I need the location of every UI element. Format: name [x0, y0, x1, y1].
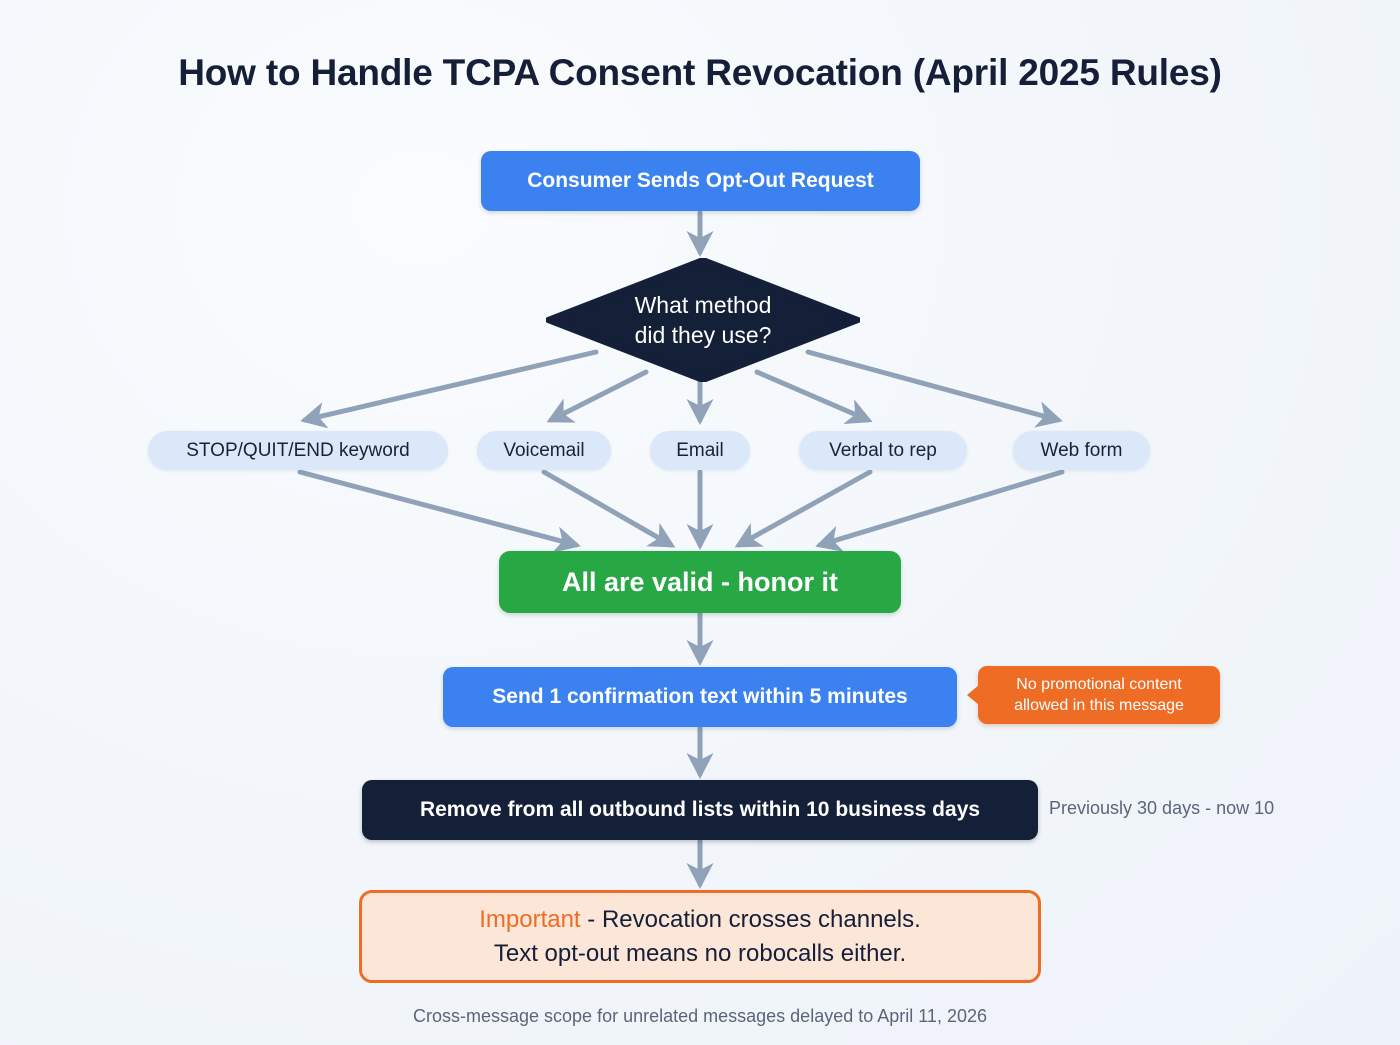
page-title: How to Handle TCPA Consent Revocation (A… — [0, 52, 1400, 94]
node-label: Remove from all outbound lists within 10… — [420, 798, 980, 822]
node-remove-from-outbound-lists[interactable]: Remove from all outbound lists within 10… — [362, 780, 1038, 840]
callout-important-cross-channel: Important - Revocation crosses channels.… — [359, 890, 1041, 983]
callout-tail-icon — [967, 685, 979, 705]
callout-no-promotional-content: No promotional content allowed in this m… — [978, 666, 1220, 724]
important-line2: Text opt-out means no robocalls either. — [494, 937, 906, 971]
flowchart-canvas: How to Handle TCPA Consent Revocation (A… — [0, 0, 1400, 1045]
footer-note: Cross-message scope for unrelated messag… — [0, 1006, 1400, 1027]
pill-label: Voicemail — [503, 440, 584, 462]
node-consumer-opt-out-request[interactable]: Consumer Sends Opt-Out Request — [481, 151, 920, 211]
method-pill-stop-keyword[interactable]: STOP/QUIT/END keyword — [148, 431, 448, 470]
arrow-voicemail-to-valid — [544, 472, 671, 545]
method-pill-voicemail[interactable]: Voicemail — [477, 431, 611, 470]
method-pill-email[interactable]: Email — [650, 431, 750, 470]
method-pill-verbal-to-rep[interactable]: Verbal to rep — [799, 431, 967, 470]
important-keyword: Important — [479, 906, 580, 933]
pill-label: STOP/QUIT/END keyword — [186, 440, 409, 462]
diamond-shape — [546, 258, 860, 382]
arrow-webform-to-valid — [820, 472, 1062, 545]
remove-side-note: Previously 30 days - now 10 — [1049, 798, 1349, 819]
node-label: Send 1 confirmation text within 5 minute… — [492, 685, 907, 709]
node-all-are-valid[interactable]: All are valid - honor it — [499, 551, 901, 613]
node-send-confirmation-text[interactable]: Send 1 confirmation text within 5 minute… — [443, 667, 957, 727]
important-line1: Important - Revocation crosses channels. — [479, 903, 921, 937]
pill-label: Web form — [1040, 440, 1122, 462]
important-line1-rest: - Revocation crosses channels. — [581, 906, 921, 933]
node-decision-what-method[interactable]: What method did they use? — [546, 258, 860, 382]
node-label: Consumer Sends Opt-Out Request — [527, 169, 874, 193]
callout-line1: No promotional content — [1016, 674, 1181, 695]
pill-label: Email — [676, 440, 724, 462]
node-label: All are valid - honor it — [562, 567, 838, 598]
pill-label: Verbal to rep — [829, 440, 937, 462]
method-pill-web-form[interactable]: Web form — [1013, 431, 1150, 470]
arrow-stop-to-valid — [300, 472, 576, 545]
callout-line2: allowed in this message — [1014, 695, 1184, 716]
